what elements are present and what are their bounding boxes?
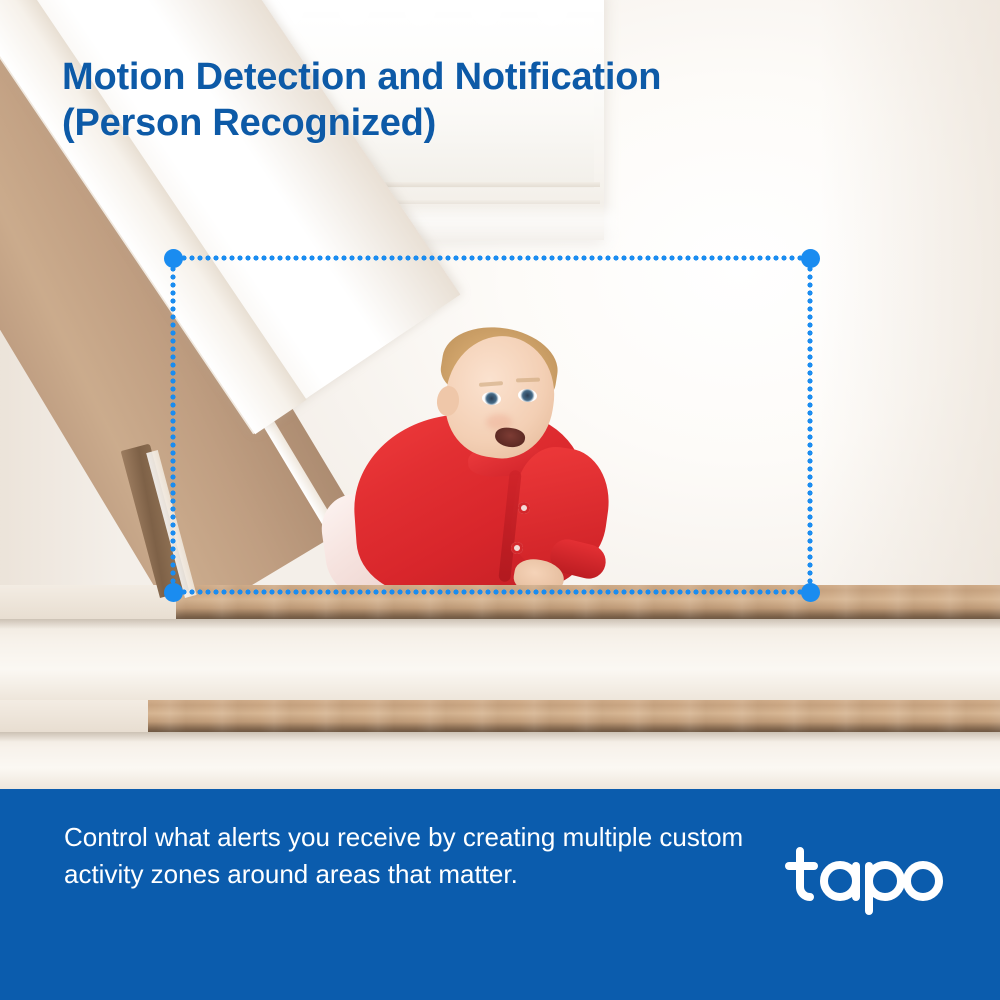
bottom-banner: Control what alerts you receive by creat… [0,789,1000,1000]
wood-grain-lower [0,700,1000,732]
page-title: Motion Detection and Notification (Perso… [62,54,902,147]
tread-upper-left-end [0,585,176,619]
tread-lower-left-end [0,700,148,732]
baby-button-lower [511,542,523,554]
stair-tread-lower [0,700,1000,732]
tapo-logo [784,843,944,915]
baby-button-upper [518,502,530,514]
tread-shadow-lower [0,730,1000,742]
promo-graphic: Motion Detection and Notification (Perso… [0,0,1000,1000]
banner-caption: Control what alerts you receive by creat… [64,819,744,894]
stair-riser-upper [0,619,1000,700]
baby-brow-right [516,378,540,383]
page-title-line-1: Motion Detection and Notification [62,54,902,100]
page-title-line-2: (Person Recognized) [62,100,902,146]
camera-scene: Motion Detection and Notification (Perso… [0,0,1000,790]
person-baby [318,330,618,592]
